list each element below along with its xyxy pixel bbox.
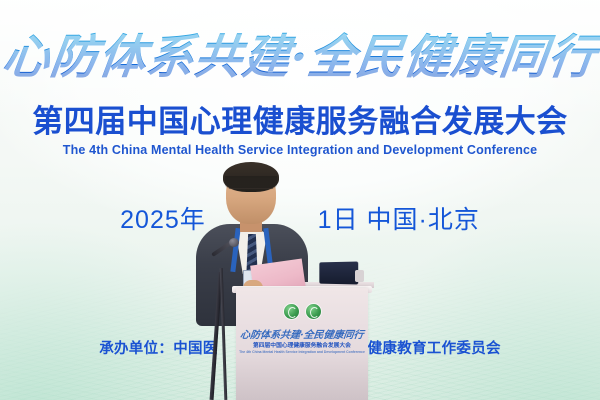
podium-logo-group [236,304,368,319]
date-prefix: 2025年 [120,206,206,234]
microphone-head [229,238,239,247]
speaker-glasses [229,188,273,200]
green-circular-emblem-icon [284,304,299,319]
organizer-undertaker-label: 承办单位： [99,341,173,357]
conference-stage-photo: 心防体系共建·全民健康同行 第四届中国心理健康服务融合发展大会 The 4th … [0,0,600,400]
date-suffix: 1日 中国·北京 [318,206,480,234]
banner-calligraphy-title: 心防体系共建·全民健康同行 [0,18,600,87]
organizer-undertaker-value: 中国医 [173,341,217,357]
podium-calligraphy-title: 心防体系共建·全民健康同行 [235,326,369,341]
green-circular-emblem-icon [306,304,321,319]
confidence-monitor [319,262,358,285]
banner-title-chinese: 第四届中国心理健康服务融合发展大会 [0,96,600,141]
podium: 心防体系共建·全民健康同行 第四届中国心理健康服务融合发展大会 The 4th … [236,288,368,400]
banner-title-english: The 4th China Mental Health Service Inte… [0,143,600,157]
podium-shading [236,352,368,400]
backdrop-glow-right [330,210,600,400]
organizer-undertaker-tail: 健康教育工作委员会 [368,341,501,357]
monitor-stem [355,270,364,282]
podium-title-chinese: 第四届中国心理健康服务融合发展大会 [239,340,366,349]
